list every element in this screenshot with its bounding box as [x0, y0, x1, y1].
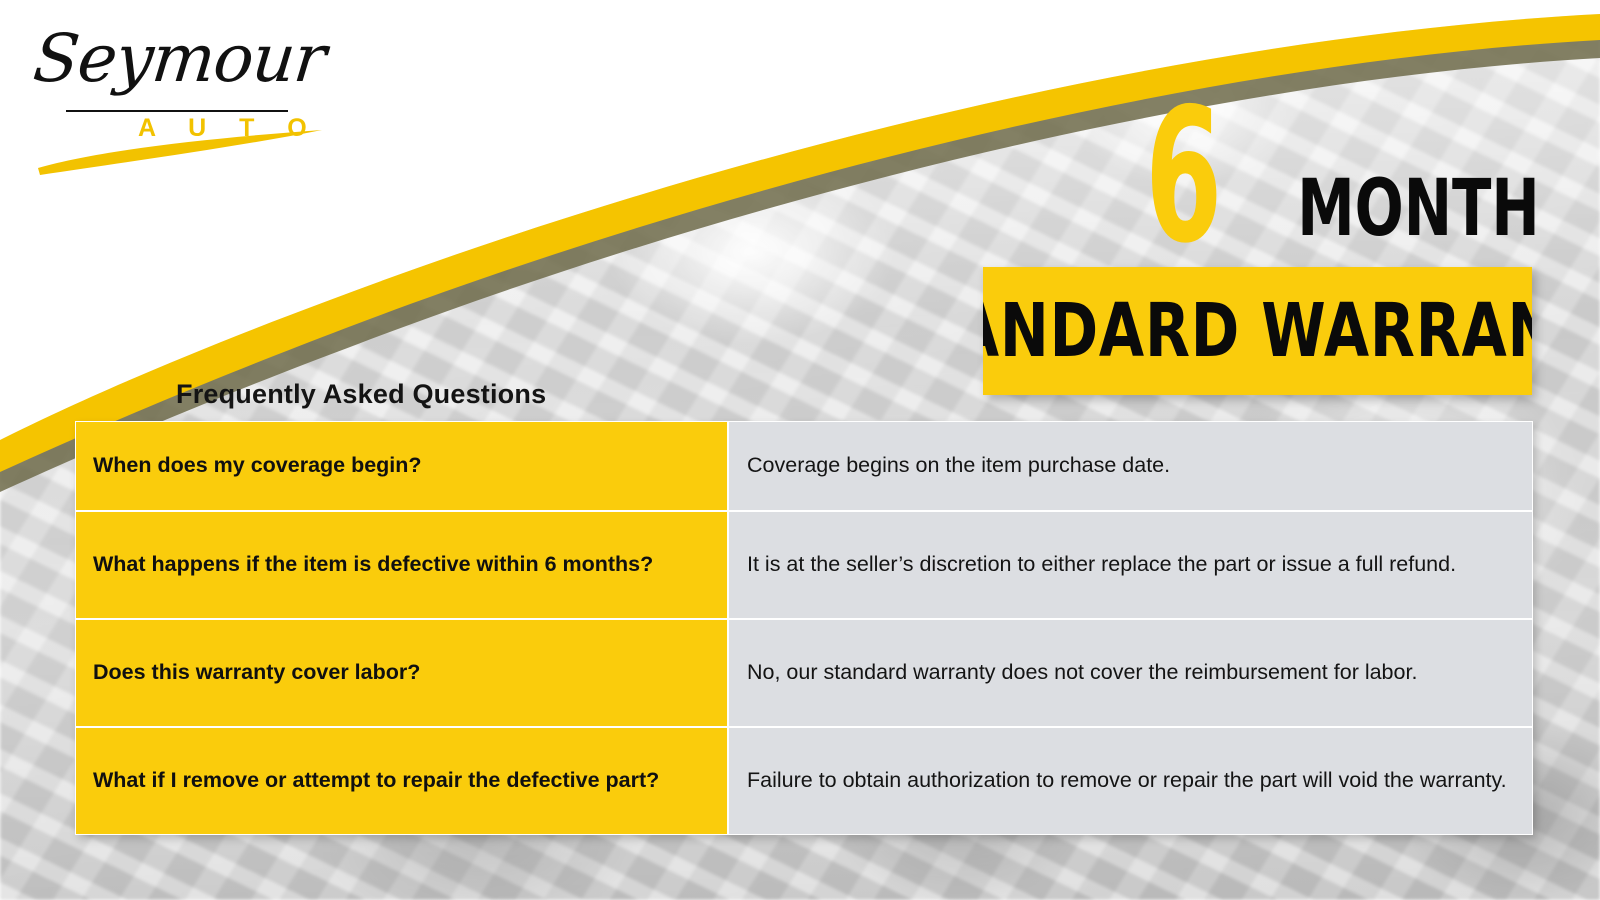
table-row: Does this warranty cover labor? No, our …: [75, 619, 1533, 727]
table-row: What happens if the item is defective wi…: [75, 511, 1533, 619]
logo-underline: [66, 110, 288, 112]
faq-answer-cell: Failure to obtain authorization to remov…: [728, 727, 1533, 835]
table-row: What if I remove or attempt to repair th…: [75, 727, 1533, 835]
faq-question-cell: Does this warranty cover labor?: [75, 619, 728, 727]
duration-unit: MONTH: [1297, 178, 1540, 240]
logo-script-text: Seymour: [30, 20, 329, 97]
duration-headline: 6 MONTH: [1180, 78, 1540, 248]
logo-swoosh-icon: [30, 128, 330, 180]
warranty-slide: Seymour A U T O 6 MONTH STANDARD WARRANT…: [0, 0, 1600, 900]
faq-answer-cell: Coverage begins on the item purchase dat…: [728, 421, 1533, 511]
faq-table: When does my coverage begin? Coverage be…: [75, 421, 1533, 835]
standard-warranty-banner: STANDARD WARRANTY: [983, 267, 1532, 395]
faq-question-cell: What happens if the item is defective wi…: [75, 511, 728, 619]
faq-answer-cell: It is at the seller’s discretion to eith…: [728, 511, 1533, 619]
faq-question-cell: When does my coverage begin?: [75, 421, 728, 511]
standard-warranty-title: STANDARD WARRANTY: [983, 294, 1532, 368]
faq-question-cell: What if I remove or attempt to repair th…: [75, 727, 728, 835]
faq-answer-cell: No, our standard warranty does not cover…: [728, 619, 1533, 727]
faq-heading: Frequently Asked Questions: [176, 379, 546, 410]
table-row: When does my coverage begin? Coverage be…: [75, 421, 1533, 511]
duration-number: 6: [1145, 104, 1219, 248]
seymour-auto-logo: Seymour A U T O: [30, 18, 330, 178]
